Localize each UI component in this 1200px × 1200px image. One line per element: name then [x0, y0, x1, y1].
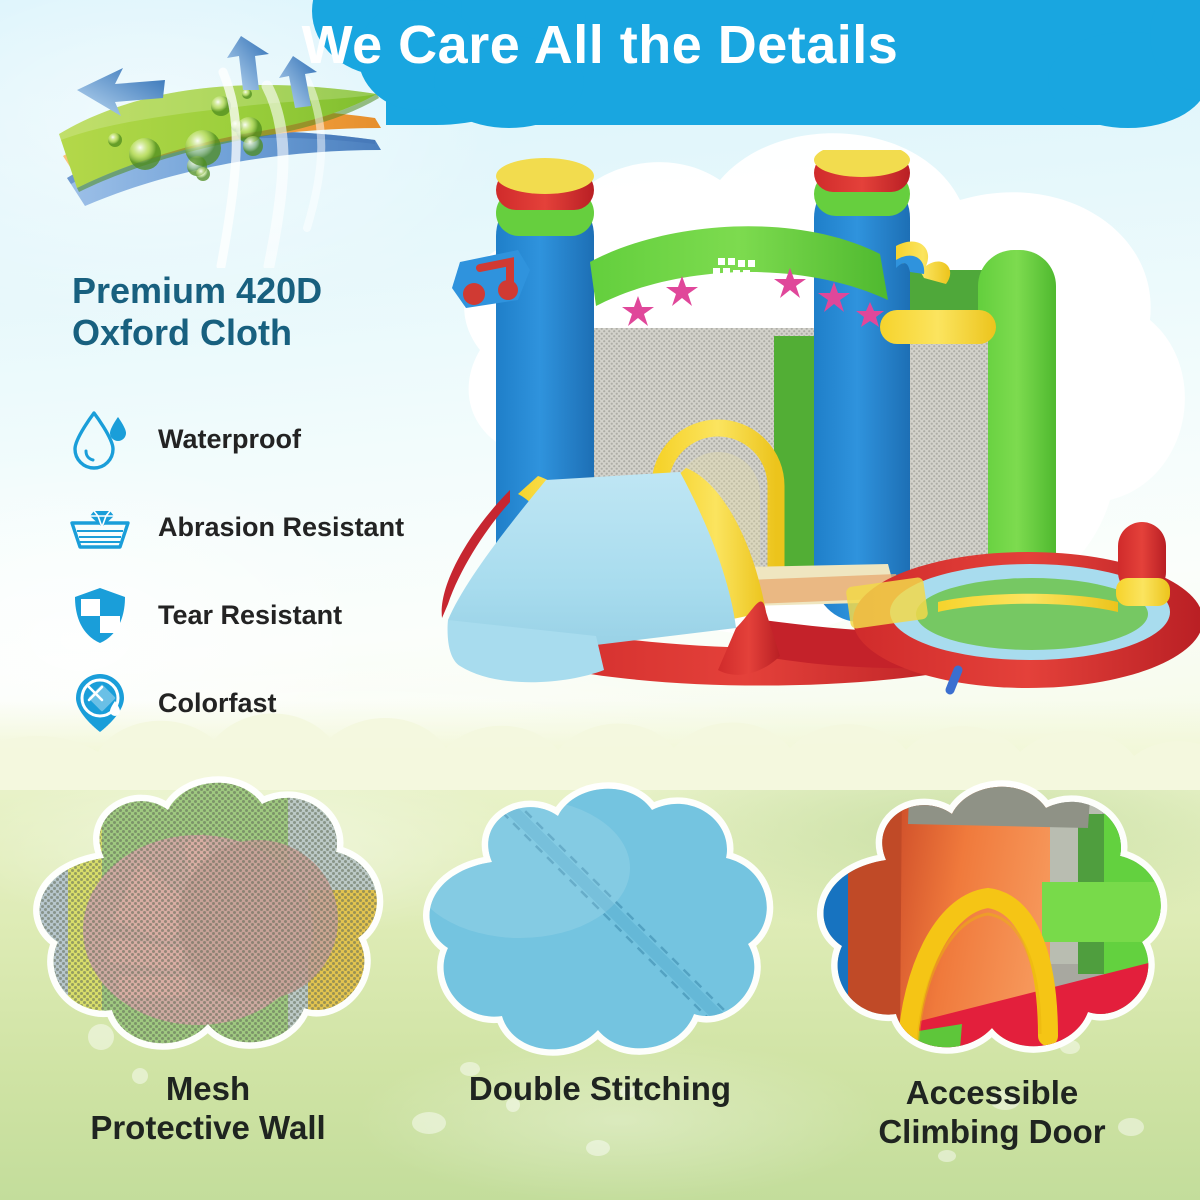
- feature-label: Abrasion Resistant: [158, 512, 404, 543]
- detail-card-caption: Mesh Protective Wall: [8, 1070, 408, 1148]
- detail-card-mesh-protective-wall[interactable]: Mesh Protective Wall: [8, 770, 408, 1070]
- caption-line-1: Mesh: [8, 1070, 408, 1109]
- double-stitching-photo: [400, 778, 800, 1078]
- headline-line-2: Oxford Cloth: [72, 312, 402, 354]
- feature-label: Tear Resistant: [158, 600, 342, 631]
- mesh-protective-wall-photo: [8, 770, 408, 1070]
- detail-card-caption: Accessible Climbing Door: [792, 1074, 1192, 1152]
- cloud-photo-frame: [792, 774, 1192, 1074]
- headline-line-1: Premium 420D: [72, 270, 402, 312]
- promo-page: We Care All the Details: [0, 0, 1200, 1200]
- material-headline: Premium 420D Oxford Cloth: [72, 270, 402, 355]
- caption-line-1: Double Stitching: [400, 1070, 800, 1109]
- diamond-fabric-icon: [68, 495, 132, 559]
- cloud-photo-frame: [8, 770, 408, 1070]
- accessible-climbing-door-photo: [792, 774, 1192, 1074]
- detail-card-caption: Double Stitching: [400, 1070, 800, 1109]
- paint-bucket-pin-icon: [68, 671, 132, 735]
- product-photo: [418, 150, 1200, 710]
- detail-card-row: Mesh Protective Wall: [0, 770, 1200, 1200]
- shield-icon: [68, 583, 132, 647]
- caption-line-2: Protective Wall: [8, 1109, 408, 1148]
- water-drop-icon: [68, 407, 132, 471]
- feature-label: Waterproof: [158, 424, 301, 455]
- detail-card-accessible-climbing-door[interactable]: Accessible Climbing Door: [792, 774, 1192, 1074]
- page-title: We Care All the Details: [0, 14, 1200, 76]
- feature-label: Colorfast: [158, 688, 277, 719]
- caption-line-1: Accessible: [792, 1074, 1192, 1113]
- cloud-photo-frame: [400, 778, 800, 1078]
- caption-line-2: Climbing Door: [792, 1113, 1192, 1152]
- detail-card-double-stitching[interactable]: Double Stitching: [400, 778, 800, 1078]
